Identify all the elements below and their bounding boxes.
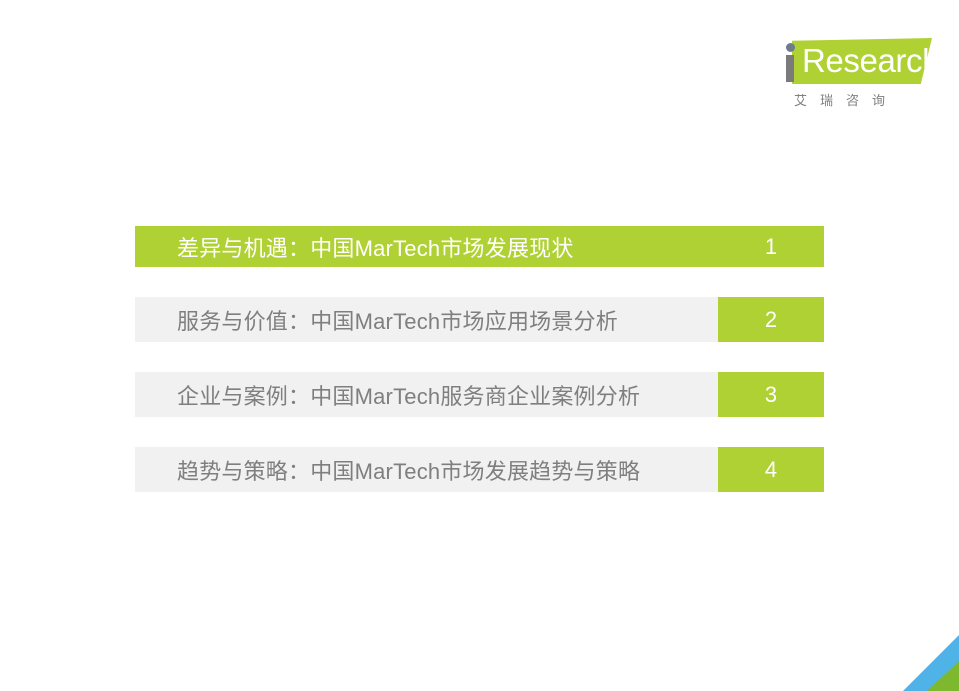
logo-i-dot-icon [786,43,795,52]
logo-mark: Research [780,38,940,88]
agenda-item-3-number: 3 [718,372,824,417]
agenda-item-1-label: 差异与机遇：中国MarTech市场发展现状 [135,226,718,267]
agenda-item-2-label: 服务与价值：中国MarTech市场应用场景分析 [135,297,718,342]
logo-chinese-name: 艾瑞咨询 [794,90,898,109]
agenda-item-1[interactable]: 差异与机遇：中国MarTech市场发展现状 1 [135,226,824,267]
agenda-item-4-number: 4 [718,447,824,492]
agenda-item-3[interactable]: 企业与案例：中国MarTech服务商企业案例分析 3 [135,372,824,417]
agenda-item-4-label: 趋势与策略：中国MarTech市场发展趋势与策略 [135,447,718,492]
corner-blue-triangle [903,635,959,691]
agenda-list: 差异与机遇：中国MarTech市场发展现状 1 服务与价值：中国MarTech市… [135,226,824,522]
logo-wordmark: Research [802,41,940,81]
corner-decoration [887,635,959,691]
agenda-item-2[interactable]: 服务与价值：中国MarTech市场应用场景分析 2 [135,297,824,342]
corner-green-triangle [927,661,959,691]
agenda-item-3-label: 企业与案例：中国MarTech服务商企业案例分析 [135,372,718,417]
iresearch-logo: Research 艾瑞咨询 [780,38,940,114]
agenda-item-2-number: 2 [718,297,824,342]
agenda-item-1-number: 1 [718,226,824,267]
logo-i-stem-icon [786,55,794,82]
agenda-item-4[interactable]: 趋势与策略：中国MarTech市场发展趋势与策略 4 [135,447,824,492]
